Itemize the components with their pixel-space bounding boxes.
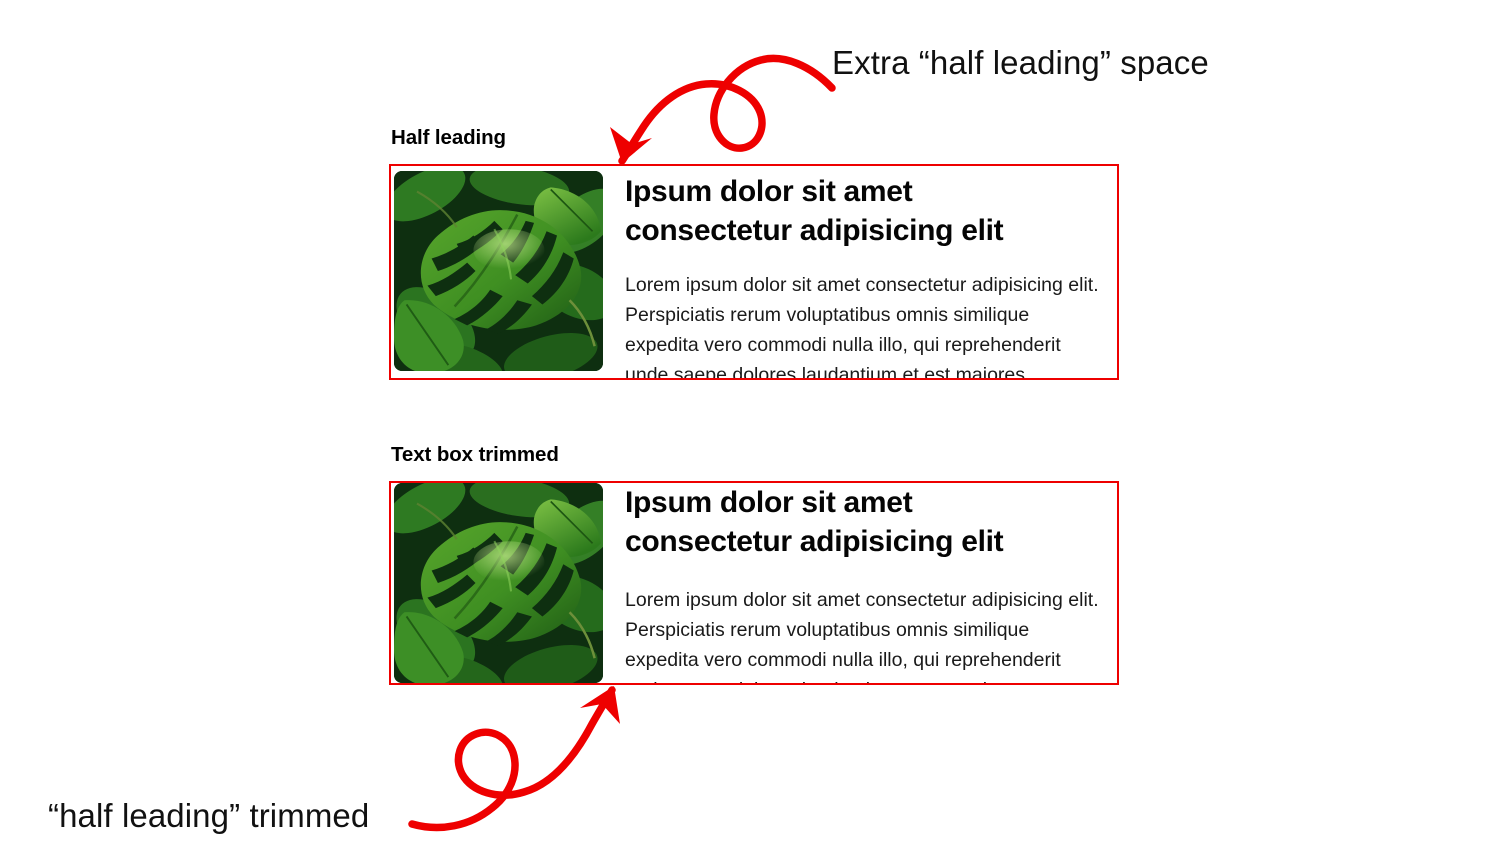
annotation-label-half-leading-trimmed: “half leading” trimmed — [48, 796, 369, 836]
card-heading: Ipsum dolor sit amet consectetur adipisi… — [625, 172, 1055, 250]
demo-label-text-box-trimmed: Text box trimmed — [391, 443, 1119, 468]
annotation-label-extra-half-leading: Extra “half leading” space — [832, 43, 1209, 83]
card-heading: Ipsum dolor sit amet consectetur adipisi… — [625, 483, 1055, 561]
demo-block-text-box-trimmed: Text box trimmed — [389, 443, 1119, 685]
card-half-leading: Ipsum dolor sit amet consectetur adipisi… — [389, 164, 1119, 380]
card-paragraph: Lorem ipsum dolor sit amet consectetur a… — [625, 585, 1105, 685]
demo-label-half-leading: Half leading — [391, 126, 1119, 151]
card-body-text-box-trimmed: Ipsum dolor sit amet consectetur adipisi… — [603, 483, 1117, 685]
demo-block-half-leading: Half leading — [389, 126, 1119, 380]
card-body-half-leading: Ipsum dolor sit amet consectetur adipisi… — [603, 166, 1117, 380]
card-paragraph: Lorem ipsum dolor sit amet consectetur a… — [625, 270, 1105, 380]
card-text-box-trimmed: Ipsum dolor sit amet consectetur adipisi… — [389, 481, 1119, 685]
card-image-monstera — [394, 171, 603, 371]
card-image-monstera — [394, 483, 603, 683]
curved-arrow-up-right-icon — [406, 676, 666, 836]
